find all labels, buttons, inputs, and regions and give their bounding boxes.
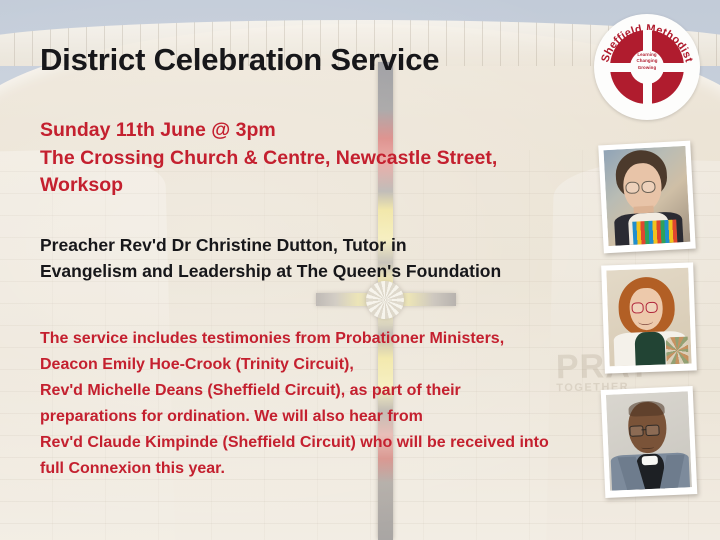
description-line: The service includes testimonies from Pr… xyxy=(40,326,549,352)
portrait-christine-dutton xyxy=(598,141,696,254)
portrait-patterned-fabric xyxy=(666,337,688,365)
preacher-details: Preacher Rev'd Dr Christine Dutton, Tuto… xyxy=(40,233,501,285)
portrait-emily-hoe-crook xyxy=(601,262,697,373)
service-description: The service includes testimonies from Pr… xyxy=(40,326,549,481)
portrait-image xyxy=(606,268,691,367)
description-line: preparations for ordination. We will als… xyxy=(40,404,549,430)
glasses-bridge-icon xyxy=(642,429,647,431)
portrait-hair xyxy=(628,400,665,417)
glasses-left-lens-icon xyxy=(629,425,644,437)
glasses-left-lens-icon xyxy=(631,302,644,314)
description-line: full Connexion this year. xyxy=(40,456,549,482)
celebration-service-poster: PRAY TOGETHER District Celebration Servi… xyxy=(0,0,720,540)
portrait-image xyxy=(603,146,690,246)
portrait-claude-kimpinde xyxy=(601,386,698,498)
portrait-image xyxy=(606,391,692,490)
portrait-rainbow-scarf xyxy=(632,219,677,244)
preacher-line-2: Evangelism and Leadership at The Queen's… xyxy=(40,259,501,285)
logo-motto-line-3: Growing xyxy=(630,65,664,71)
portrait-top xyxy=(635,332,666,366)
event-venue: The Crossing Church & Centre, Newcastle … xyxy=(40,145,497,173)
glasses-left-lens-icon xyxy=(625,181,640,194)
description-line: Deacon Emily Hoe-Crook (Trinity Circuit)… xyxy=(40,352,549,378)
event-details: Sunday 11th June @ 3pm The Crossing Chur… xyxy=(40,117,497,200)
logo-motto: Learning Changing Growing xyxy=(630,52,664,71)
page-title: District Celebration Service xyxy=(40,42,439,78)
event-datetime: Sunday 11th June @ 3pm xyxy=(40,117,497,145)
portrait-clerical-collar xyxy=(641,456,658,465)
portrait-mouth xyxy=(641,444,654,449)
description-line: Rev'd Michelle Deans (Sheffield Circuit)… xyxy=(40,378,549,404)
description-line: Rev'd Claude Kimpinde (Sheffield Circuit… xyxy=(40,430,549,456)
glasses-right-lens-icon xyxy=(645,424,660,436)
sheffield-methodist-district-logo: Sheffield Methodist District Learning Ch… xyxy=(594,14,700,120)
preacher-line-1: Preacher Rev'd Dr Christine Dutton, Tuto… xyxy=(40,233,501,259)
event-town: Worksop xyxy=(40,172,497,200)
glasses-right-lens-icon xyxy=(645,301,658,313)
